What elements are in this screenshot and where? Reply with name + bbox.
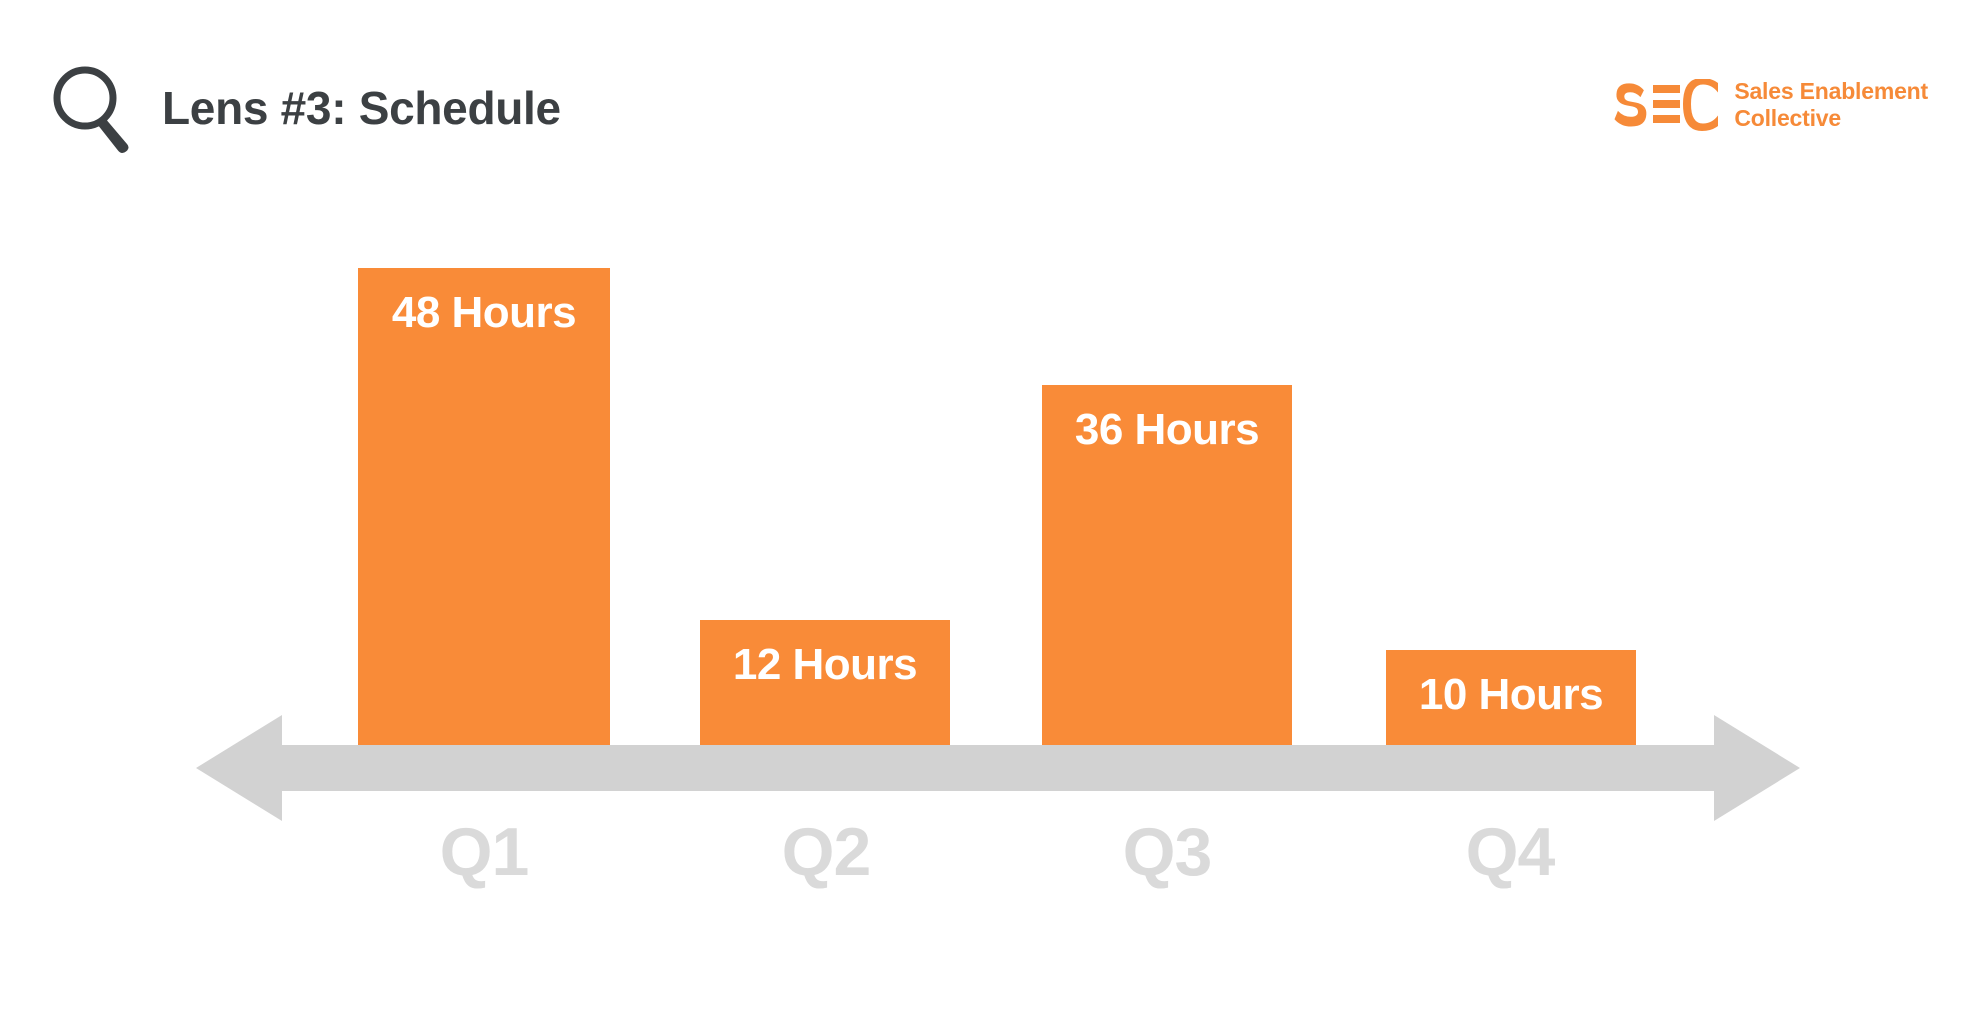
bar-q1[interactable]: 48 Hours <box>358 268 610 745</box>
bar-label-q2: 12 Hours <box>700 642 950 688</box>
tick-label-q1: Q1 <box>374 818 594 886</box>
bar-q3[interactable]: 36 Hours <box>1042 385 1292 745</box>
slide-canvas: Lens #3: Schedule Sales Enablement Colle… <box>0 0 1986 1012</box>
tick-label-q3: Q3 <box>1057 818 1277 886</box>
bar-chart: 48 Hours 12 Hours 36 Hours 10 Hours Q1 Q… <box>0 0 1986 1012</box>
tick-label-q4: Q4 <box>1400 818 1620 886</box>
bar-label-q1: 48 Hours <box>358 290 610 336</box>
tick-label-q2: Q2 <box>716 818 936 886</box>
bar-label-q3: 36 Hours <box>1042 407 1292 453</box>
